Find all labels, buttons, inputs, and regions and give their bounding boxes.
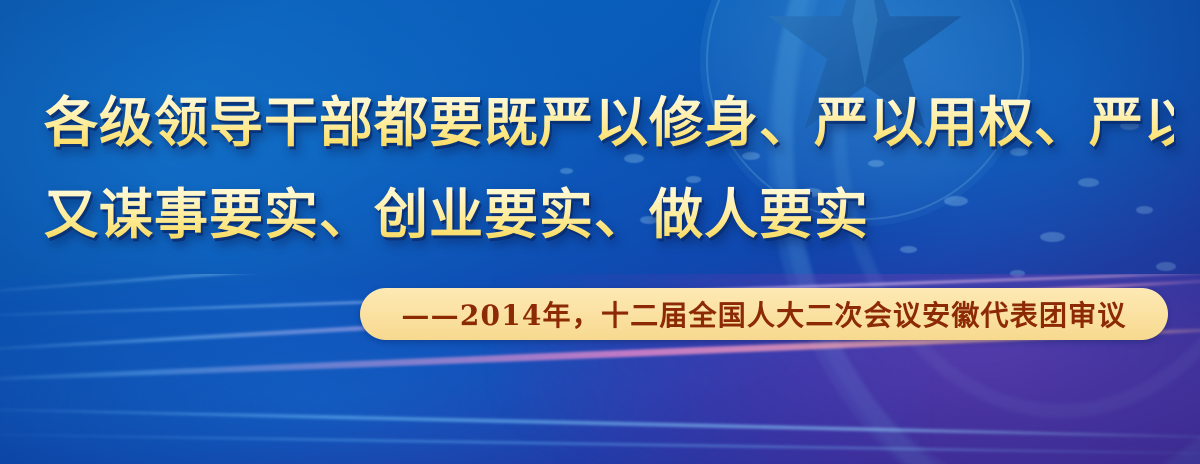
attribution-pill: ——2014年，十二届全国人大二次会议安徽代表团审议: [360, 288, 1168, 340]
quote-banner: 各级领导干部都要既严以修身、严以用权、严以律己， 又谋事要实、创业要实、做人要实…: [0, 0, 1200, 464]
headline-line-2: 又谋事要实、创业要实、做人要实: [44, 168, 1174, 260]
headline-block: 各级领导干部都要既严以修身、严以用权、严以律己， 又谋事要实、创业要实、做人要实: [44, 76, 1174, 260]
attribution-text: ——2014年，十二届全国人大二次会议安徽代表团审议: [401, 294, 1126, 334]
headline-line-1: 各级领导干部都要既严以修身、严以用权、严以律己，: [44, 76, 1174, 168]
